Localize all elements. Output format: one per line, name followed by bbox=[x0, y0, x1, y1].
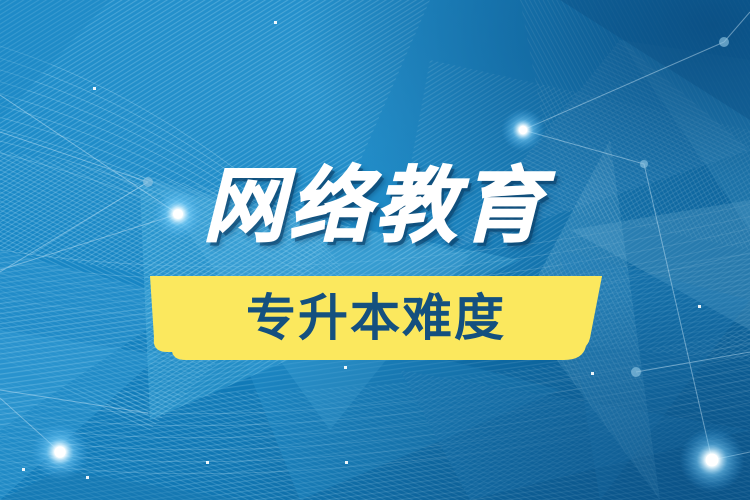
promo-banner: 网络教育 专升本难度 bbox=[0, 0, 750, 500]
subtitle-text: 专升本难度 bbox=[150, 291, 602, 345]
page-title: 网络教育 bbox=[0, 166, 750, 248]
subtitle-banner: 专升本难度 bbox=[150, 276, 602, 360]
hero-content: 网络教育 专升本难度 bbox=[0, 0, 750, 500]
